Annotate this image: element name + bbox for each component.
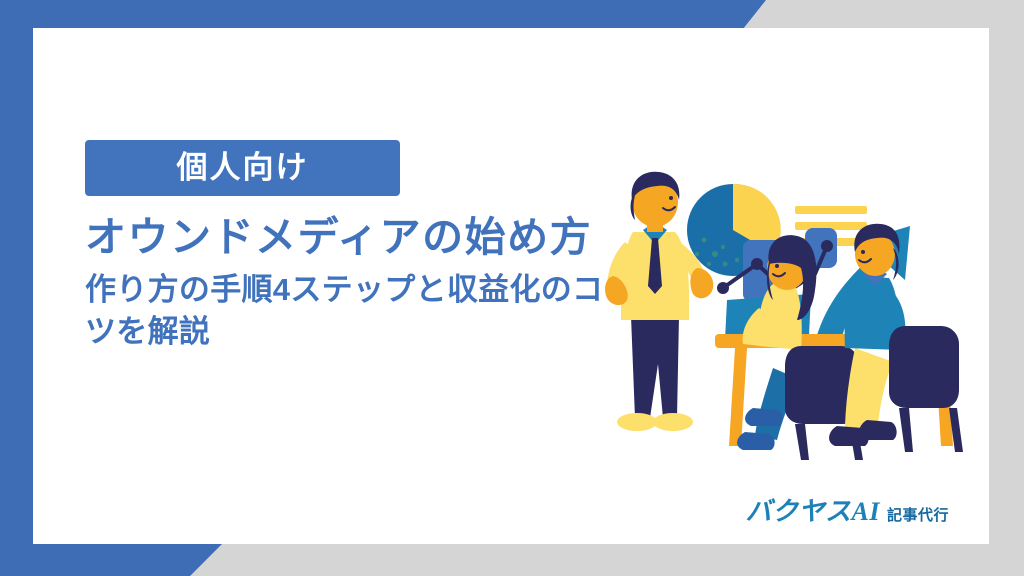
- slide-canvas: 個人向け オウンドメディアの始め方 作り方の手順4ステップと収益化のコツを解説: [0, 0, 1024, 576]
- frame-gray-top-right: [744, 0, 1024, 28]
- page-subtitle: 作り方の手順4ステップと収益化のコツを解説: [85, 269, 630, 351]
- brand-logo: バクヤスAI 記事代行: [746, 491, 949, 528]
- frame-blue-top-bar: [0, 0, 766, 28]
- audience-badge: 個人向け: [85, 140, 400, 196]
- page-title: オウンドメディアの始め方: [85, 213, 645, 261]
- frame-gray-right-edge: [989, 0, 1024, 576]
- frame-blue-bottom-bar: [0, 544, 222, 576]
- business-presentation-illustration: [605, 168, 965, 468]
- brand-logo-sub: 記事代行: [887, 504, 949, 525]
- text-block: 個人向け オウンドメディアの始め方 作り方の手順4ステップと収益化のコツを解説: [85, 140, 645, 352]
- frame-blue-left-edge: [0, 0, 33, 576]
- brand-logo-main: バクヤスAI: [746, 491, 880, 528]
